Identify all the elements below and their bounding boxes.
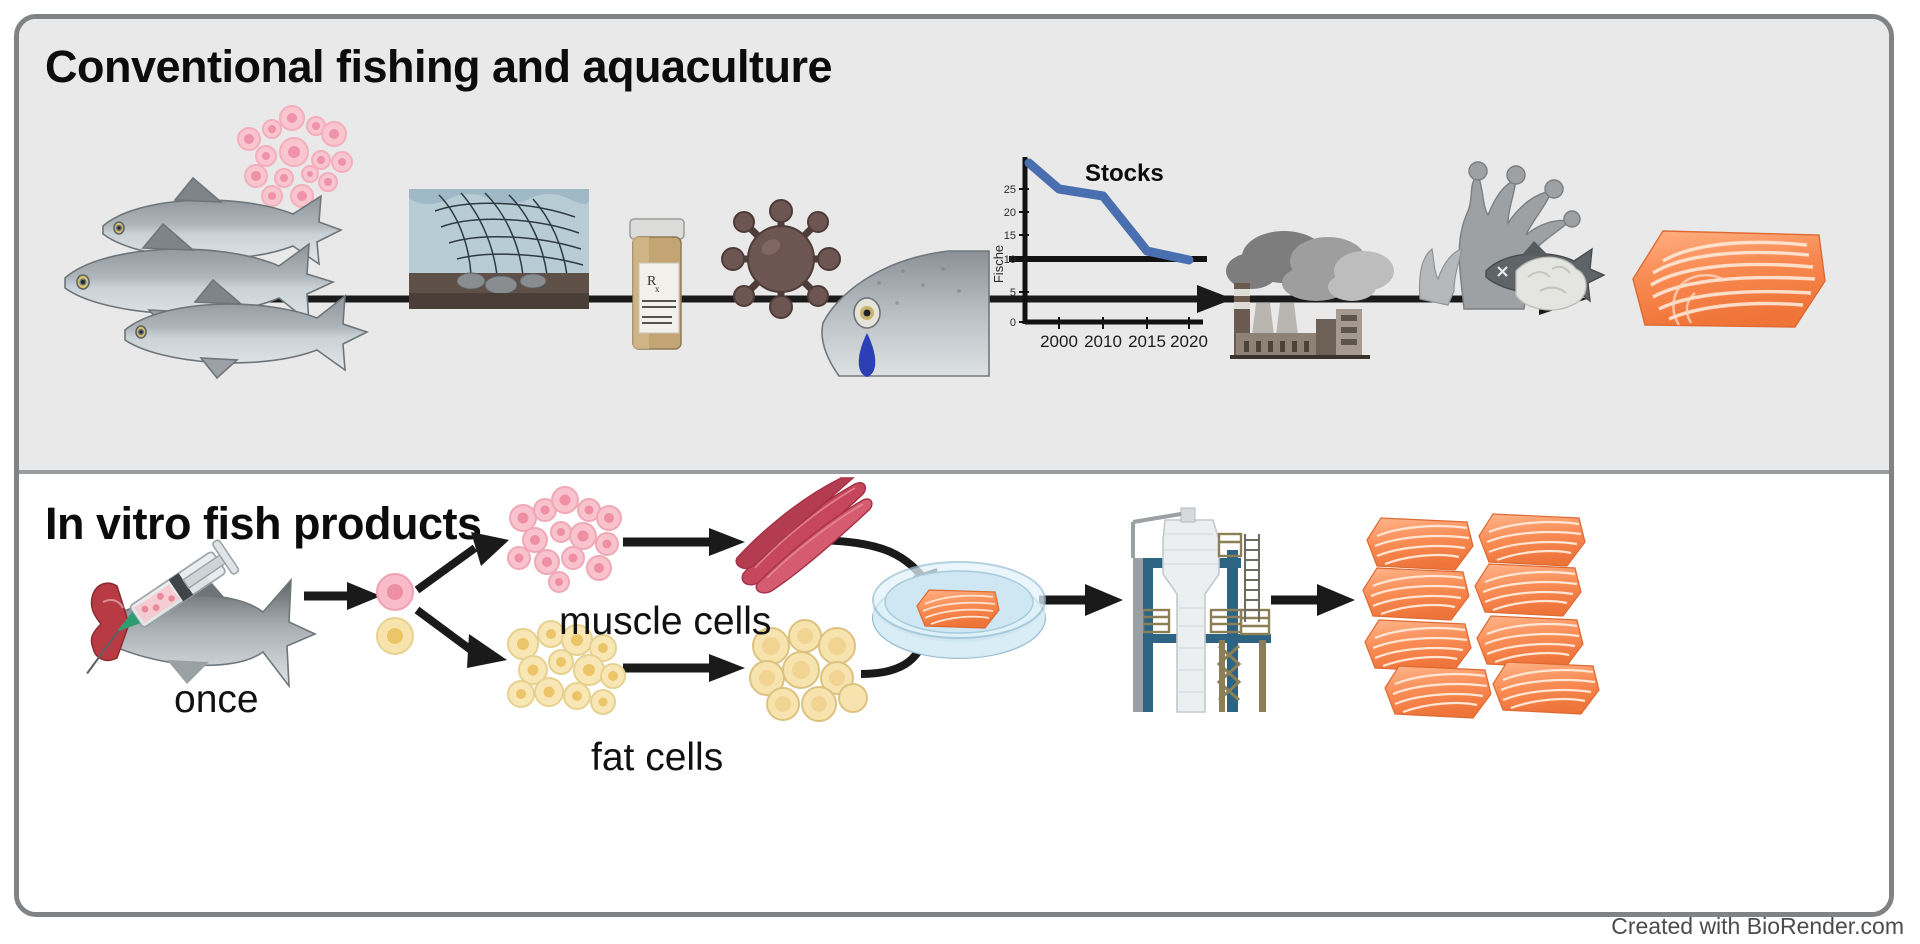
salmon-school-icon bbox=[59, 184, 379, 384]
svg-text:15: 15 bbox=[1004, 230, 1016, 242]
svg-text:25: 25 bbox=[1004, 184, 1016, 196]
muscle-fiber-icon bbox=[735, 478, 875, 593]
label-muscle-cells: muscle cells bbox=[559, 600, 771, 644]
stem-cell-pink-icon bbox=[377, 574, 413, 610]
stem-cell-yellow-icon bbox=[377, 618, 413, 654]
svg-text:2010: 2010 bbox=[1084, 332, 1122, 351]
stocks-decline-chart: Stocks Fische 25 20 15 bbox=[985, 149, 1235, 379]
svg-text:5: 5 bbox=[1010, 287, 1016, 299]
svg-text:20: 20 bbox=[1004, 207, 1016, 219]
salmon-fillet-icon bbox=[1619, 209, 1839, 349]
chart-title: Stocks bbox=[1085, 160, 1164, 187]
svg-text:x: x bbox=[655, 284, 660, 294]
svg-text:0: 0 bbox=[1010, 317, 1016, 329]
panel-in-vitro: In vitro fish products bbox=[19, 478, 1889, 917]
svg-text:2020: 2020 bbox=[1170, 332, 1208, 351]
chart-svg: Stocks Fische 25 20 15 bbox=[985, 149, 1235, 379]
svg-text:2015: 2015 bbox=[1128, 332, 1166, 351]
rx-medicine-vial-icon: R x bbox=[622, 219, 692, 354]
muscle-cell-cluster-icon bbox=[499, 488, 629, 598]
bioreactor-icon bbox=[1119, 498, 1279, 718]
label-fat-cells: fat cells bbox=[591, 736, 723, 780]
bleached-coral-icon bbox=[1404, 149, 1614, 329]
label-once: once bbox=[174, 678, 259, 722]
petri-dish-icon bbox=[869, 540, 1049, 670]
fillet-stack-icon bbox=[1359, 506, 1639, 716]
panel-conventional: Conventional fishing and aquaculture bbox=[19, 19, 1889, 474]
svg-text:2000: 2000 bbox=[1040, 332, 1078, 351]
figure-frame: Conventional fishing and aquaculture bbox=[14, 14, 1894, 917]
stem-cells-pair bbox=[367, 572, 423, 662]
biorender-credit: Created with BioRender.com bbox=[1611, 913, 1904, 940]
polluting-factory-icon bbox=[1224, 209, 1424, 359]
fish-biopsy-syringe-icon bbox=[67, 528, 317, 698]
svg-text:10: 10 bbox=[1004, 254, 1016, 266]
crying-fish-icon bbox=[819, 251, 989, 376]
fishing-net-icon bbox=[409, 189, 589, 309]
